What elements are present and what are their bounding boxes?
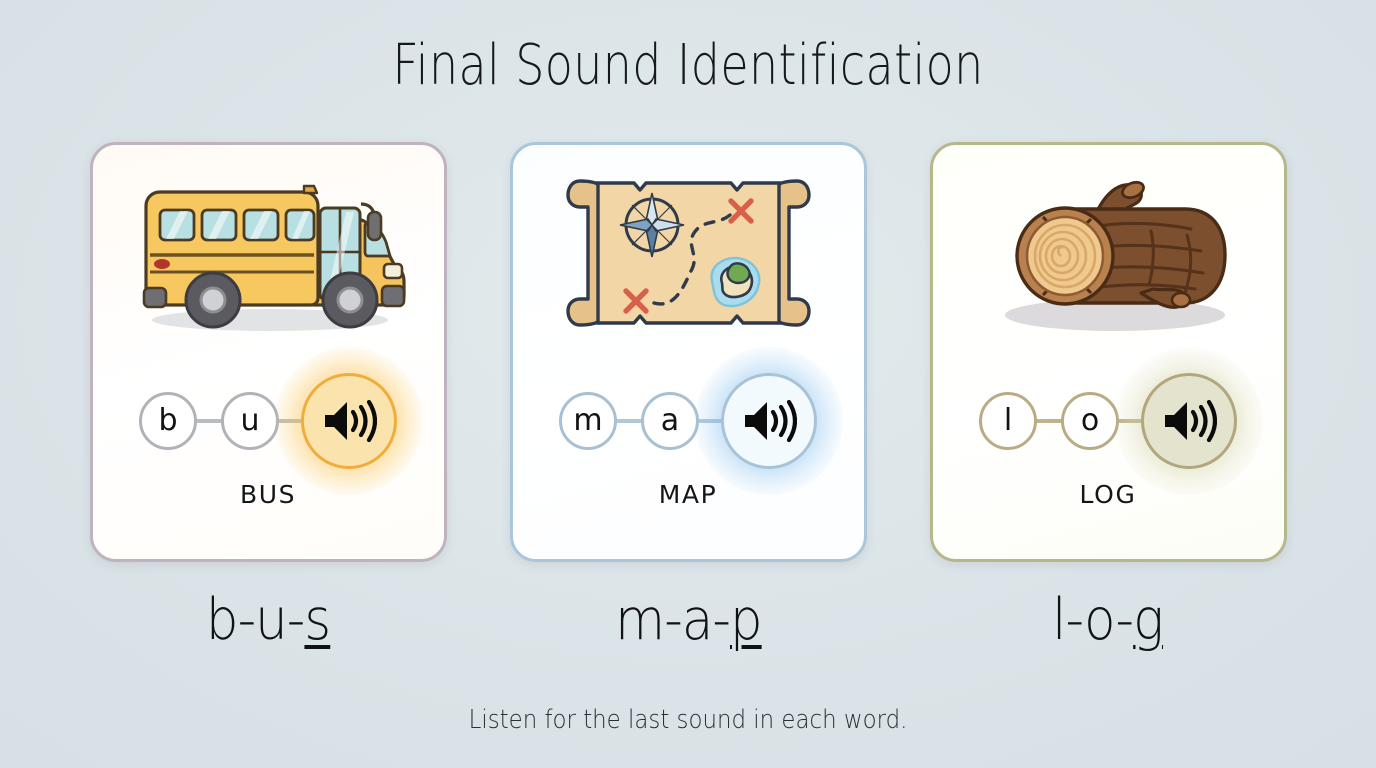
phoneme-circle-1[interactable]: l	[979, 392, 1037, 450]
phoneme-circle-2[interactable]: o	[1061, 392, 1119, 450]
segmented-final-sound: p	[730, 587, 762, 653]
illustration-school-bus	[93, 145, 444, 360]
phoneme-row-bus: b u	[93, 366, 444, 476]
illustration-wooden-log	[933, 145, 1284, 360]
phoneme-connector	[615, 419, 643, 423]
phoneme-circle-2[interactable]: a	[641, 392, 699, 450]
segmented-word-bus: b-u-s	[206, 592, 330, 649]
card-word-label: BUS	[240, 480, 296, 509]
segmented-prefix: b-u-	[206, 587, 305, 653]
speaker-button-map[interactable]	[721, 373, 817, 469]
speaker-wave-icon	[321, 397, 377, 445]
phoneme-circle-1[interactable]: b	[139, 392, 197, 450]
phoneme-circle-1[interactable]: m	[559, 392, 617, 450]
segmented-word-map: m-a-p	[615, 592, 762, 649]
word-card-column-log: l o	[930, 142, 1287, 649]
footer-instruction: Listen for the last sound in each word.	[83, 705, 1294, 735]
illustration-treasure-map	[513, 145, 864, 360]
word-card-row: b u	[0, 142, 1376, 649]
phoneme-row-map: m a	[513, 366, 864, 476]
phoneme-connector	[1035, 419, 1063, 423]
phoneme-connector	[195, 419, 223, 423]
word-card-map[interactable]: m a	[510, 142, 867, 562]
card-word-label: LOG	[1080, 480, 1137, 509]
treasure-map-icon	[566, 163, 811, 343]
wooden-log-icon	[973, 165, 1243, 340]
speaker-wave-icon	[741, 397, 797, 445]
segmented-word-log: l-o-g	[1053, 592, 1164, 649]
lesson-stage: Final Sound Identification	[0, 0, 1376, 768]
phoneme-row-log: l o	[933, 366, 1284, 476]
card-word-label: MAP	[659, 480, 718, 509]
word-card-log[interactable]: l o	[930, 142, 1287, 562]
page-title: Final Sound Identification	[124, 33, 1252, 98]
speaker-button-bus[interactable]	[301, 373, 397, 469]
segmented-final-sound: g	[1134, 587, 1164, 653]
speaker-wave-icon	[1161, 397, 1217, 445]
word-card-column-map: m a	[510, 142, 867, 649]
segmented-prefix: l-o-	[1053, 587, 1134, 653]
word-card-column-bus: b u	[90, 142, 447, 649]
school-bus-icon	[118, 160, 418, 345]
speaker-button-log[interactable]	[1141, 373, 1237, 469]
word-card-bus[interactable]: b u	[90, 142, 447, 562]
phoneme-circle-2[interactable]: u	[221, 392, 279, 450]
segmented-final-sound: s	[304, 587, 330, 653]
segmented-prefix: m-a-	[615, 587, 730, 653]
